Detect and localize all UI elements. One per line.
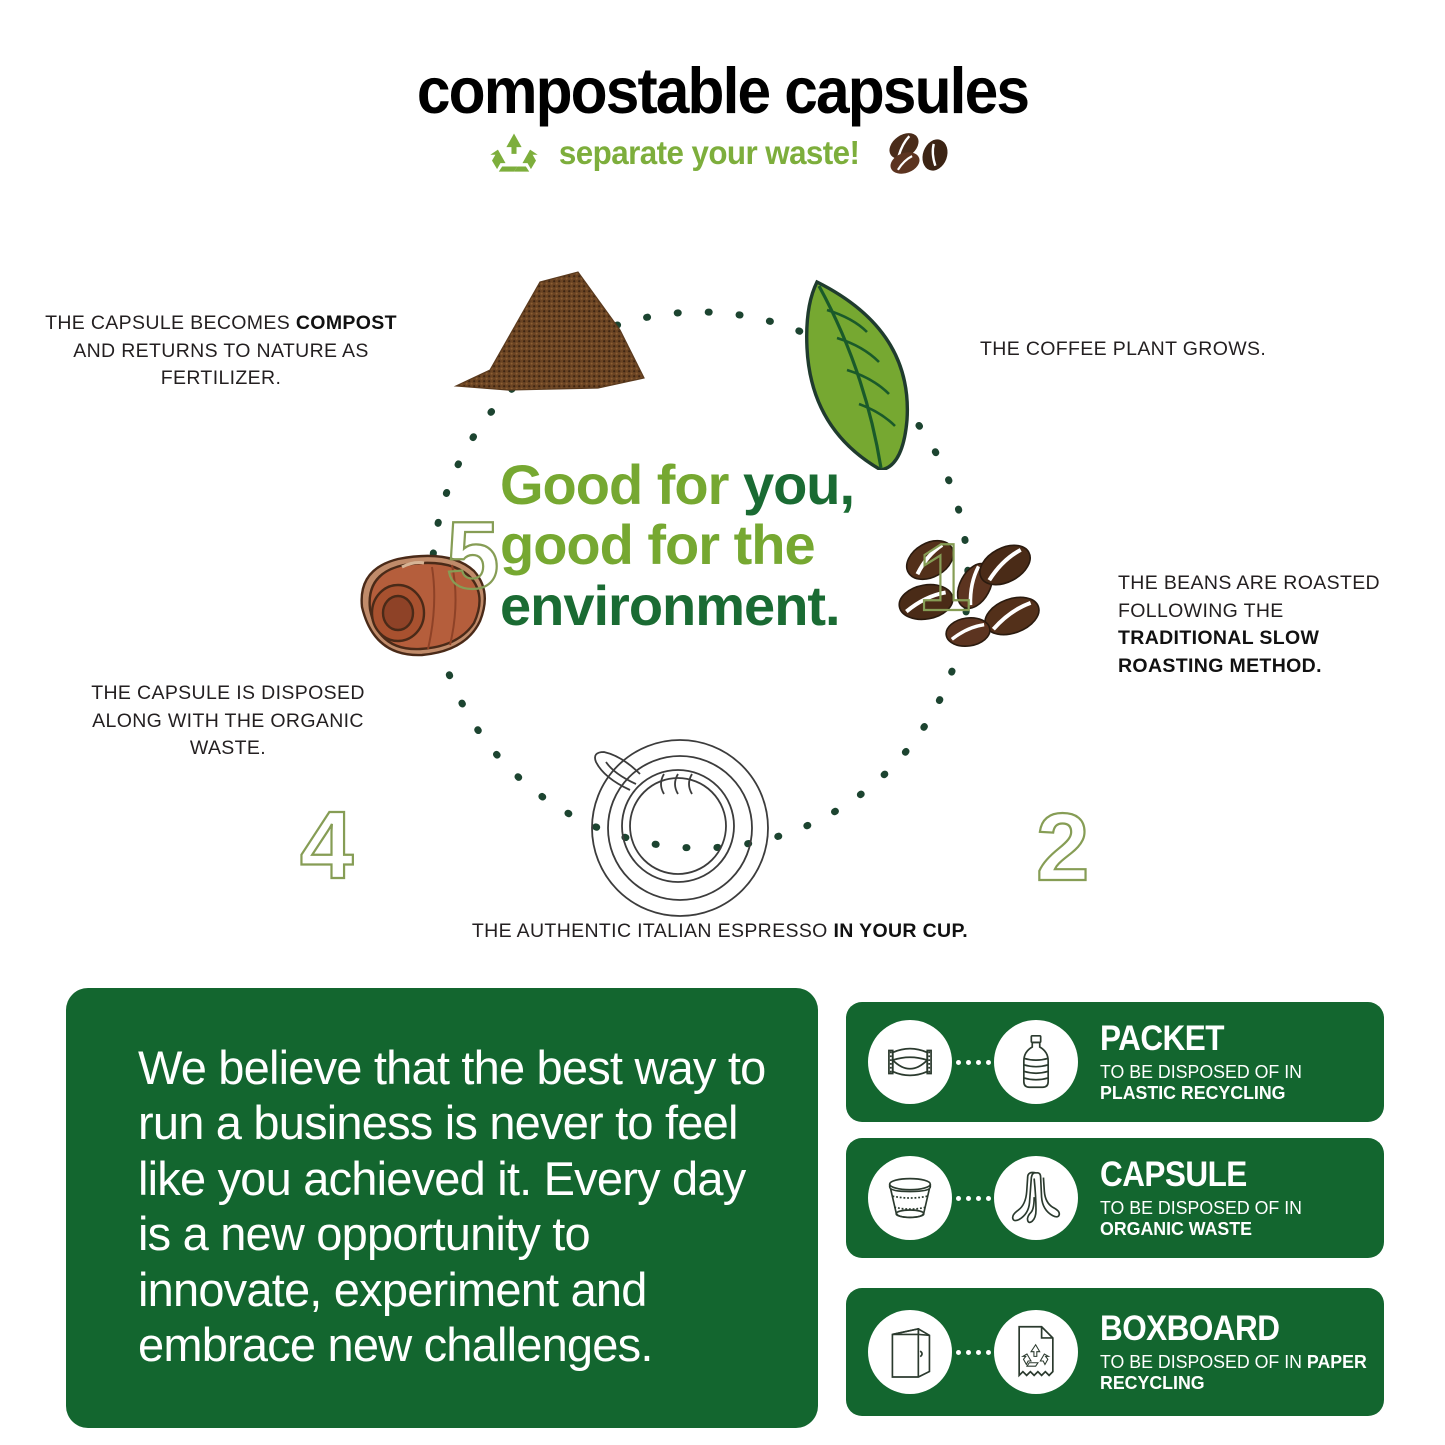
connector-dots: [952, 1196, 994, 1201]
step-text-5-b: AND RETURNS TO NATURE AS FERTILIZER.: [73, 340, 369, 390]
step-text-1: THE COFFEE PLANT GROWS.: [980, 336, 1280, 364]
step-text-3-bold: IN YOUR CUP.: [833, 920, 968, 942]
card-title: CAPSULE: [1100, 1157, 1289, 1192]
step-number-5: 5: [446, 508, 499, 604]
recyclable-paper-icon: [994, 1310, 1078, 1394]
plastic-bottle-icon: [994, 1020, 1078, 1104]
packet-icon: [868, 1020, 952, 1104]
slogan-line2: good for the: [500, 513, 815, 576]
coffee-beans-icon: [878, 129, 958, 177]
step-text-2-bold: TRADITIONAL SLOW ROASTING METHOD.: [1118, 627, 1322, 677]
page-title: compostable capsules: [51, 58, 1395, 123]
card-subtitle: TO BE DISPOSED OF IN PLASTIC RECYCLING: [1100, 1061, 1302, 1104]
card-subtitle: TO BE DISPOSED OF IN ORGANIC WASTE: [1100, 1197, 1302, 1240]
card-title: BOXBOARD: [1100, 1311, 1356, 1346]
header-subtitle-row: separate your waste!: [0, 129, 1445, 177]
step-number-2: 2: [1036, 800, 1089, 896]
header: compostable capsules separate your waste…: [0, 58, 1445, 177]
step-text-3: THE AUTHENTIC ITALIAN ESPRESSO IN YOUR C…: [400, 918, 1040, 946]
step-text-2: THE BEANS ARE ROASTED FOLLOWING THE TRAD…: [1118, 570, 1418, 681]
slogan: Good for you, good for the environment.: [500, 455, 920, 636]
disposal-card-boxboard[interactable]: BOXBOARD TO BE DISPOSED OF IN PAPER RECY…: [846, 1288, 1384, 1416]
lifecycle-diagram: 5 1 2 4 3 THE CAPSULE BECOMES COMPOST AN…: [0, 240, 1445, 970]
step-number-4: 4: [300, 798, 353, 894]
card-icons: [868, 1156, 1078, 1240]
card-subtitle: TO BE DISPOSED OF IN PAPER RECYCLING: [1100, 1351, 1373, 1394]
step-text-2-plain: THE BEANS ARE ROASTED FOLLOWING THE: [1118, 572, 1380, 622]
slogan-line1-dark: you,: [743, 453, 854, 516]
compost-pile-icon: [448, 260, 648, 395]
card-text: CAPSULE TO BE DISPOSED OF IN ORGANIC WAS…: [1100, 1157, 1310, 1240]
card-icons: [868, 1310, 1078, 1394]
card-sub-plain: TO BE DISPOSED OF IN: [1100, 1197, 1302, 1218]
slogan-line1-light: Good for: [500, 453, 728, 516]
header-subtitle: separate your waste!: [559, 134, 859, 172]
leaf-icon: [795, 270, 935, 470]
card-title: PACKET: [1100, 1021, 1289, 1056]
step-text-5: THE CAPSULE BECOMES COMPOST AND RETURNS …: [30, 310, 412, 393]
quote-panel: We believe that the best way to run a bu…: [66, 988, 818, 1428]
connector-dots: [952, 1060, 994, 1065]
card-text: BOXBOARD TO BE DISPOSED OF IN PAPER RECY…: [1100, 1311, 1384, 1394]
card-sub-plain: TO BE DISPOSED OF IN: [1100, 1351, 1307, 1372]
infographic-page: compostable capsules separate your waste…: [0, 0, 1445, 1445]
slogan-line3: environment.: [500, 574, 840, 637]
card-sub-plain: TO BE DISPOSED OF IN: [1100, 1061, 1302, 1082]
disposal-card-capsule[interactable]: CAPSULE TO BE DISPOSED OF IN ORGANIC WAS…: [846, 1138, 1384, 1258]
quote-text: We believe that the best way to run a bu…: [138, 1040, 768, 1373]
box-icon: [868, 1310, 952, 1394]
disposal-card-packet[interactable]: PACKET TO BE DISPOSED OF IN PLASTIC RECY…: [846, 1002, 1384, 1122]
capsule-icon: [868, 1156, 952, 1240]
card-text: PACKET TO BE DISPOSED OF IN PLASTIC RECY…: [1100, 1021, 1310, 1104]
step-text-4: THE CAPSULE IS DISPOSED ALONG WITH THE O…: [58, 680, 398, 763]
card-icons: [868, 1020, 1078, 1104]
banana-peel-icon: [994, 1156, 1078, 1240]
step-text-5-bold: COMPOST: [296, 312, 397, 334]
connector-dots: [952, 1350, 994, 1355]
card-sub-bold: ORGANIC WASTE: [1100, 1218, 1252, 1239]
step-number-1: 1: [918, 530, 971, 626]
step-text-3-plain: THE AUTHENTIC ITALIAN ESPRESSO: [472, 920, 834, 942]
espresso-cup-icon: [582, 732, 772, 922]
step-text-5-a: THE CAPSULE BECOMES: [45, 312, 296, 334]
recycle-icon: [487, 131, 541, 175]
card-sub-bold: PLASTIC RECYCLING: [1100, 1082, 1286, 1103]
